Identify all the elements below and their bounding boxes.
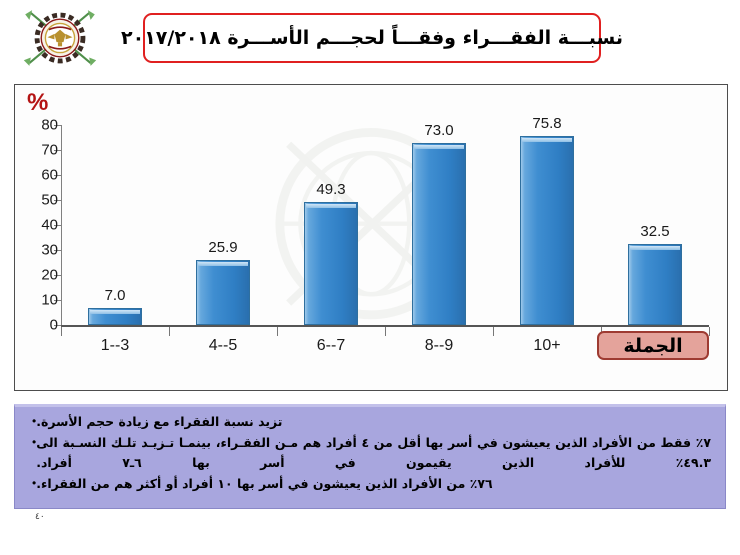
bar [304, 202, 358, 325]
x-axis-category-label: 1--3 [101, 337, 129, 355]
x-axis-tick [61, 327, 62, 336]
y-axis-tick-label: 20 [28, 267, 58, 284]
bar [88, 308, 142, 326]
y-axis-tick-label: 80 [28, 117, 58, 134]
x-axis-category-label: 6--7 [317, 337, 345, 355]
y-axis-tick-label: 40 [28, 217, 58, 234]
bar-value-label: 49.3 [316, 181, 345, 198]
capmas-emblem-logo [18, 6, 102, 70]
note-text: ٧٦٪ من الأفراد الذين يعيشون في أسر بها ١… [36, 474, 492, 493]
bar-value-label: 32.5 [640, 223, 669, 240]
bar-value-label: 25.9 [208, 239, 237, 256]
list-item: ٧٪ فقط من الأفراد الذين يعيشون في أسر به… [25, 433, 711, 472]
y-axis-line [61, 125, 62, 325]
bar [196, 260, 250, 325]
list-item: ٧٦٪ من الأفراد الذين يعيشون في أسر بها ١… [25, 474, 711, 493]
x-axis-tick [709, 327, 710, 336]
bullet-icon: • [32, 474, 36, 493]
y-axis-tick-label: 10 [28, 292, 58, 309]
total-category-text: الجملة [623, 335, 682, 357]
y-axis-tick-label: 30 [28, 242, 58, 259]
page-title: نسبـــة الفقـــراء وفقـــاً لحجـــم الأس… [121, 27, 623, 49]
y-axis-unit-label: % [27, 89, 48, 117]
chart-panel: % 01020304050607080 7.025.949.373.075.83… [14, 84, 728, 391]
y-axis-tick-label: 50 [28, 192, 58, 209]
bar-value-label: 75.8 [532, 115, 561, 132]
plot-area: 01020304050607080 7.025.949.373.075.832.… [61, 125, 709, 350]
total-category-label: الجملة [597, 331, 709, 360]
bullet-icon: • [32, 412, 36, 431]
y-axis-tick-label: 70 [28, 142, 58, 159]
y-axis-tick-label: 60 [28, 167, 58, 184]
x-axis-tick [169, 327, 170, 336]
bar-value-label: 73.0 [424, 122, 453, 139]
bar [520, 136, 574, 326]
bullet-icon: • [32, 433, 36, 452]
bar [412, 143, 466, 326]
key-findings-box: تزيد نسبة الفقراء مع زيادة حجم الأسرة. •… [14, 404, 726, 509]
page-number: ٤٠ [35, 512, 45, 522]
bar [628, 244, 682, 325]
list-item: تزيد نسبة الفقراء مع زيادة حجم الأسرة. • [25, 412, 711, 431]
y-axis-tick-label: 0 [28, 317, 58, 334]
note-text: ٧٪ فقط من الأفراد الذين يعيشون في أسر به… [36, 433, 711, 472]
note-text: تزيد نسبة الفقراء مع زيادة حجم الأسرة. [36, 412, 282, 431]
x-axis-category-label: 10+ [533, 337, 560, 355]
page-header: نسبـــة الفقـــراء وفقـــاً لحجـــم الأس… [0, 0, 740, 74]
x-axis-category-label: 4--5 [209, 337, 237, 355]
x-axis-tick [493, 327, 494, 336]
x-axis-category-label: 8--9 [425, 337, 453, 355]
x-axis-tick [277, 327, 278, 336]
bar-value-label: 7.0 [105, 287, 126, 304]
x-axis-tick [385, 327, 386, 336]
slide-title-box: نسبـــة الفقـــراء وفقـــاً لحجـــم الأس… [143, 13, 601, 63]
